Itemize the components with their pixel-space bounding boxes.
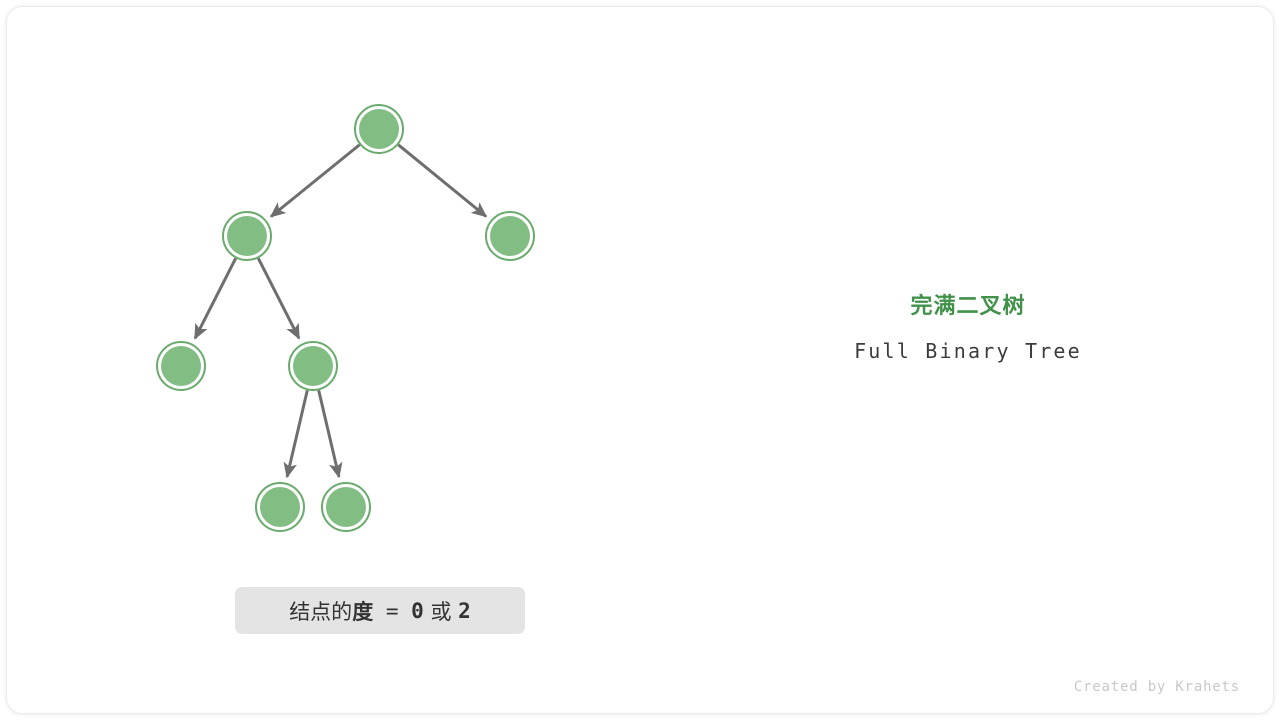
tree-node-disc bbox=[359, 109, 399, 149]
tree-node-layer bbox=[157, 105, 534, 531]
tree-edge-layer bbox=[195, 145, 486, 477]
degree-value-two: 2 bbox=[458, 599, 471, 623]
caption-title: 完满二叉树 bbox=[768, 292, 1168, 322]
credit-text: Created by Krahets bbox=[1074, 679, 1240, 695]
tree-node-disc bbox=[490, 216, 530, 256]
tree-node bbox=[322, 483, 370, 531]
diagram-canvas: 完满二叉树 Full Binary Tree 结点的度 = 0 或 2 Crea… bbox=[0, 0, 1280, 720]
degree-prefix: 结点的 bbox=[289, 596, 352, 626]
tree-node-disc bbox=[161, 346, 201, 386]
tree-node bbox=[223, 212, 271, 260]
tree-node-disc bbox=[326, 487, 366, 527]
degree-value-zero: 0 bbox=[411, 599, 424, 623]
caption-block: 完满二叉树 Full Binary Tree bbox=[768, 292, 1168, 364]
tree-edge bbox=[287, 390, 307, 476]
caption-subtitle: Full Binary Tree bbox=[768, 338, 1168, 364]
tree-node-disc bbox=[293, 346, 333, 386]
tree-node bbox=[289, 342, 337, 390]
tree-edge bbox=[195, 258, 236, 338]
tree-edge bbox=[258, 258, 299, 338]
degree-word: 度 bbox=[352, 596, 373, 626]
tree-node bbox=[157, 342, 205, 390]
degree-conjunction: 或 bbox=[424, 596, 458, 626]
tree-edge bbox=[398, 145, 486, 217]
tree-node bbox=[486, 212, 534, 260]
tree-node-disc bbox=[260, 487, 300, 527]
tree-edge bbox=[319, 390, 339, 476]
degree-equals: = bbox=[373, 599, 411, 623]
tree-node bbox=[256, 483, 304, 531]
tree-node-disc bbox=[227, 216, 267, 256]
tree-edge bbox=[271, 145, 359, 217]
tree-node bbox=[355, 105, 403, 153]
degree-formula-label: 结点的度 = 0 或 2 bbox=[235, 587, 525, 634]
